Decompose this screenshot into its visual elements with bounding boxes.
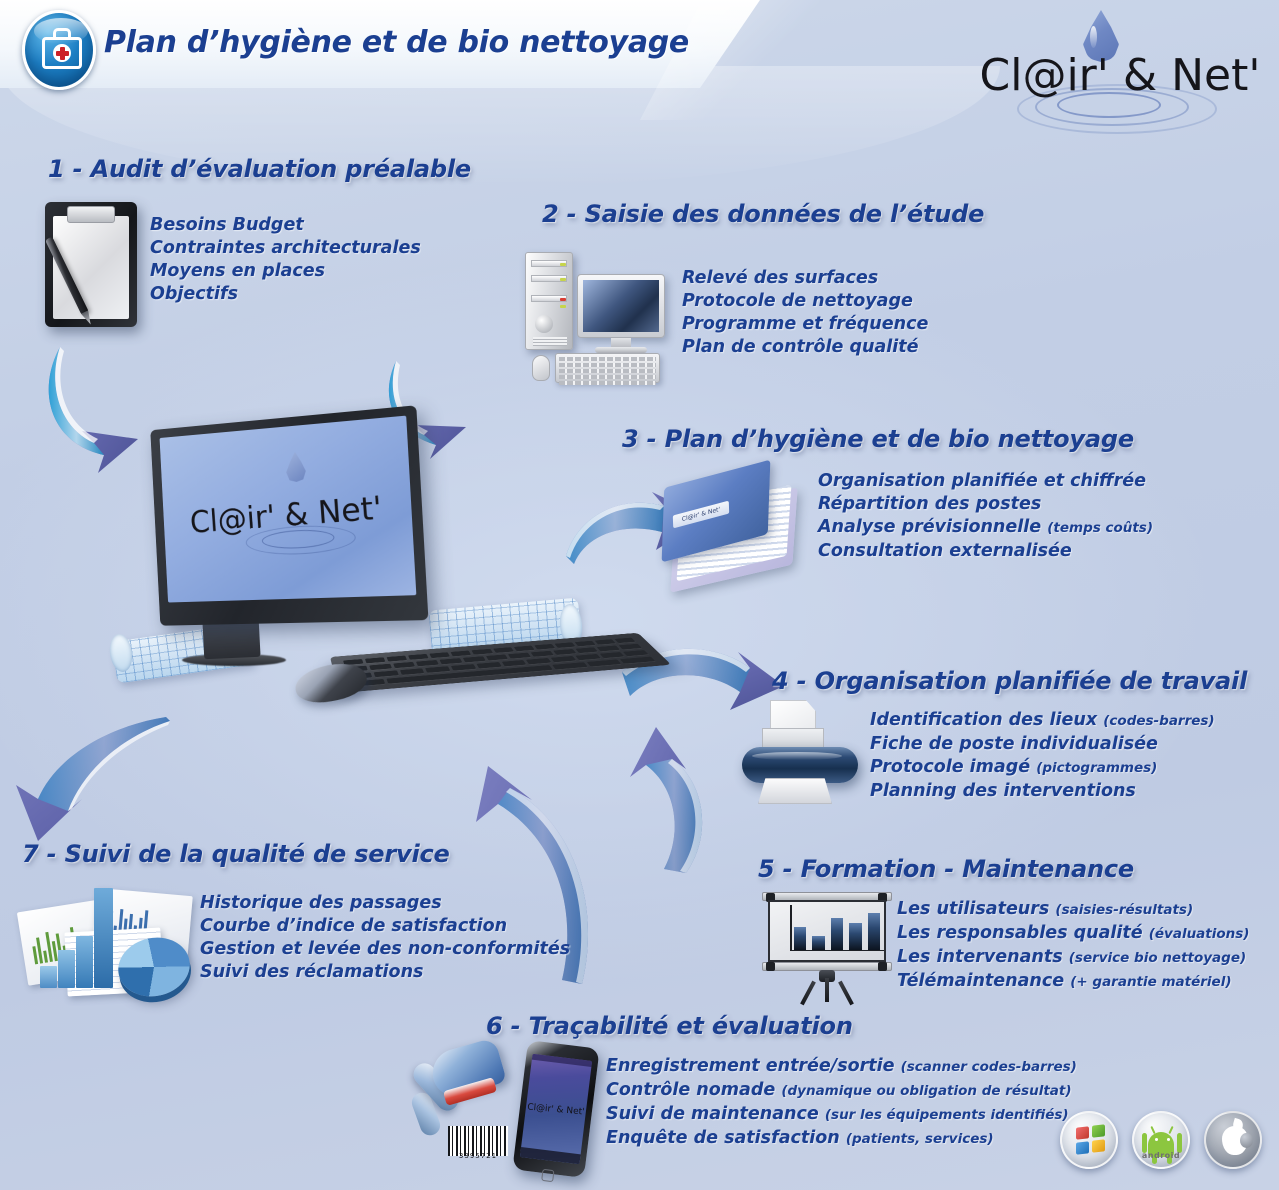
infographic-canvas: Plan d’hygiène et de bio nettoyage Cl@ir…: [0, 0, 1279, 1190]
printer-output-tray: [758, 778, 832, 804]
clipboard-clamp: [67, 206, 115, 223]
list-item: Identification des lieux (codes-barres): [870, 709, 1215, 733]
section-4-bullets: Identification des lieux (codes-barres) …: [870, 709, 1215, 803]
list-item: Moyens en places: [150, 260, 421, 283]
section-2-bullets: Relevé des surfaces Protocole de nettoya…: [682, 267, 928, 359]
clipboard-pen-icon: [45, 202, 137, 327]
section-1-bullets: Besoins Budget Contraintes architectural…: [150, 214, 421, 306]
analytics-charts-icon: [18, 878, 198, 1000]
list-item: Suivi de maintenance (sur les équipement…: [606, 1103, 1077, 1127]
barcode-scanner-icon: 3395721: [404, 1042, 514, 1168]
list-item: Contraintes architecturales: [150, 237, 421, 260]
red-cross-horizontal: [56, 51, 69, 56]
tripod-leg-center: [825, 978, 829, 1002]
projector-screen: [768, 900, 886, 962]
tripod-leg-right: [838, 981, 854, 1006]
monitor-frame: Cl@ir' & Net': [150, 405, 428, 625]
section-2-title: 2 - Saisie des données de l’étude: [542, 200, 984, 228]
list-item: Répartition des postes: [818, 493, 1153, 516]
brand-name: Cl@ir' & Net': [975, 50, 1265, 101]
list-item: Besoins Budget: [150, 214, 421, 237]
pc-keyboard: [555, 353, 660, 383]
projector-chart-bars: [794, 906, 880, 950]
list-item: Suivi des réclamations: [200, 961, 570, 984]
bar-3: [76, 936, 93, 988]
list-item: Enquête de satisfaction (patients, servi…: [606, 1127, 1077, 1151]
monitor-screen: Cl@ir' & Net': [160, 416, 417, 603]
list-item: Relevé des surfaces: [682, 267, 928, 290]
list-item: Télémaintenance (+ garantie matériel): [897, 970, 1249, 994]
tripod-leg-left: [800, 981, 816, 1006]
list-item: Enregistrement entrée/sortie (scanner co…: [606, 1055, 1077, 1079]
screen-droplet-icon: [285, 451, 306, 483]
android-wordmark: android: [1134, 1151, 1188, 1160]
smartphone-icon: Cl@ir' & Net': [512, 1040, 599, 1178]
projector-screen-chart-icon: [758, 892, 896, 1004]
notebook-icon: Cl@ir' & Net': [655, 472, 805, 584]
list-item: Consultation externalisée: [818, 540, 1153, 563]
list-item: Plan de contrôle qualité: [682, 336, 928, 359]
list-item: Programme et fréquence: [682, 313, 928, 336]
brand-logo: Cl@ir' & Net': [975, 8, 1265, 120]
bar-2: [58, 950, 75, 988]
bar-1: [40, 966, 57, 988]
desktop-computer-icon: [525, 252, 670, 372]
list-item: Organisation planifiée et chiffrée: [818, 470, 1153, 493]
list-item: Analyse prévisionnelle (temps coûts): [818, 516, 1153, 540]
list-item: Planning des interventions: [870, 780, 1215, 803]
apple-bite-shape: [1240, 1133, 1253, 1148]
arrow-5-to-center: [620, 725, 740, 875]
phone-screen: Cl@ir' & Net': [520, 1054, 592, 1165]
phone-dock-bar: [520, 1147, 581, 1164]
kit-handle-shape: [53, 28, 71, 40]
android-logo-icon: android: [1132, 1111, 1190, 1169]
list-item: Courbe d’indice de satisfaction: [200, 915, 570, 938]
section-4-title: 4 - Organisation planifiée de travail: [772, 667, 1247, 695]
list-item: Objectifs: [150, 283, 421, 306]
pc-tower: [525, 252, 573, 350]
pc-monitor: [577, 274, 665, 338]
list-item: Protocole imagé (pictogrammes): [870, 756, 1215, 780]
windows-logo-icon: [1060, 1111, 1118, 1169]
section-1-title: 1 - Audit d’évaluation préalable: [48, 155, 471, 183]
printer-icon: [740, 700, 860, 808]
phone-home-button: [541, 1169, 554, 1182]
phone-status-bar: [532, 1054, 592, 1067]
printer-body: [742, 747, 858, 783]
pc-mouse: [532, 355, 550, 381]
page-title: Plan d’hygiène et de bio nettoyage: [104, 25, 689, 60]
medical-kit-icon: [22, 10, 96, 90]
section-3-bullets: Organisation planifiée et chiffrée Répar…: [818, 470, 1153, 563]
section-6-title: 6 - Traçabilité et évaluation: [486, 1012, 853, 1040]
section-5-bullets: Les utilisateurs (saisies-résultats) Les…: [897, 898, 1249, 994]
section-3-title: 3 - Plan d’hygiène et de bio nettoyage: [622, 425, 1134, 453]
bar-4: [94, 888, 113, 988]
list-item: Les intervenants (service bio nettoyage): [897, 946, 1249, 970]
central-computer-illustration: Cl@ir' & Net': [130, 418, 670, 718]
list-item: Fiche de poste individualisée: [870, 733, 1215, 756]
list-item: Les utilisateurs (saisies-résultats): [897, 898, 1249, 922]
list-item: Protocole de nettoyage: [682, 290, 928, 313]
section-7-title: 7 - Suivi de la qualité de service: [22, 840, 450, 868]
phone-brand-text: Cl@ir' & Net': [526, 1102, 587, 1117]
apple-logo-icon: [1204, 1111, 1262, 1169]
list-item: Gestion et levée des non-conformités: [200, 938, 570, 961]
list-item: Les responsables qualité (évaluations): [897, 922, 1249, 946]
section-6-bullets: Enregistrement entrée/sortie (scanner co…: [606, 1055, 1077, 1151]
section-7-bullets: Historique des passages Courbe d’indice …: [200, 892, 570, 984]
list-item: Historique des passages: [200, 892, 570, 915]
barcode-number: 3395721: [448, 1152, 508, 1160]
section-5-title: 5 - Formation - Maintenance: [758, 855, 1134, 883]
list-item: Contrôle nomade (dynamique ou obligation…: [606, 1079, 1077, 1103]
arrow-center-to-7: [10, 715, 180, 855]
